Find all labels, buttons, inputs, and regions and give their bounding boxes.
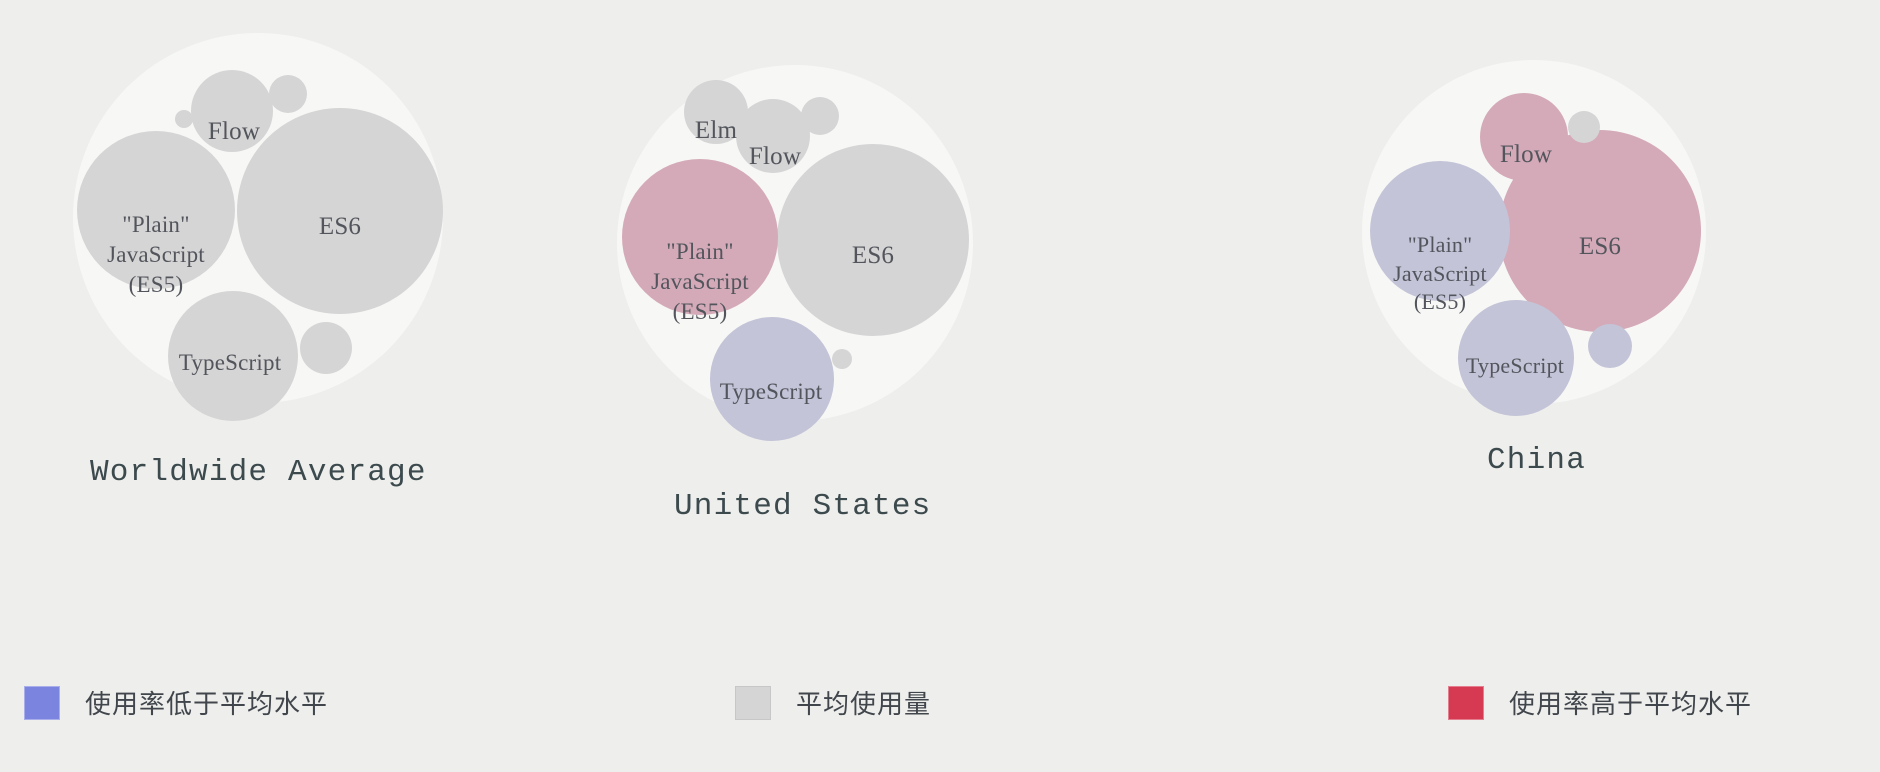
bubble-plain[interactable] bbox=[1370, 161, 1510, 301]
chart-title: China bbox=[1487, 443, 1586, 478]
legend-label: 平均使用量 bbox=[796, 684, 931, 721]
bubble-chart-china: ES6"Plain" JavaScript (ES5)TypeScriptFlo… bbox=[0, 0, 1880, 660]
chart-legend: 使用率低于平均水平平均使用量使用率高于平均水平 bbox=[0, 684, 1880, 744]
legend-swatch-below-average bbox=[24, 686, 60, 720]
legend-item-below-average[interactable]: 使用率低于平均水平 bbox=[24, 684, 328, 721]
bubble-chart-page: ES6"Plain" JavaScript (ES5)TypeScriptFlo… bbox=[0, 0, 1880, 772]
bubble-typescript[interactable] bbox=[1458, 300, 1574, 416]
bubble-flow[interactable] bbox=[1480, 93, 1568, 181]
legend-swatch-above-average bbox=[1448, 686, 1484, 720]
legend-swatch-average bbox=[735, 686, 771, 720]
bubble-unlabeled[interactable] bbox=[1588, 324, 1632, 368]
bubble-unlabeled[interactable] bbox=[1568, 111, 1600, 143]
legend-label: 使用率高于平均水平 bbox=[1509, 684, 1752, 721]
legend-item-average[interactable]: 平均使用量 bbox=[735, 684, 931, 721]
legend-label: 使用率低于平均水平 bbox=[85, 684, 328, 721]
legend-item-above-average[interactable]: 使用率高于平均水平 bbox=[1448, 684, 1752, 721]
